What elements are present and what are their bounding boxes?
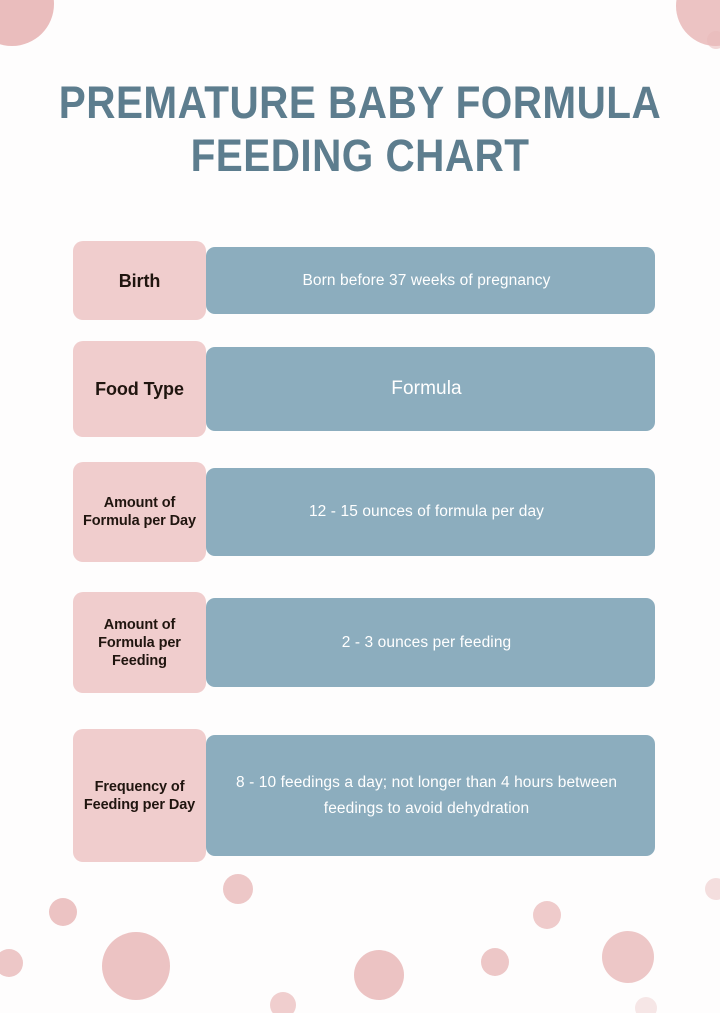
decorative-circle (223, 874, 253, 904)
decorative-circle (0, 949, 23, 977)
row-value-bar: 2 - 3 ounces per feeding (206, 598, 655, 687)
row-label-box: Food Type (73, 341, 206, 437)
row-label-box: Amount of Formula per Feeding (73, 592, 206, 693)
row-value-bar: Born before 37 weeks of pregnancy (206, 247, 655, 314)
row-value-text: 8 - 10 feedings a day; not longer than 4… (224, 770, 629, 822)
table-row: 8 - 10 feedings a day; not longer than 4… (73, 729, 655, 862)
table-row: Born before 37 weeks of pregnancy Birth (73, 241, 655, 320)
decorative-circle (49, 898, 77, 926)
page-title-line-2: FEEDING CHART (36, 129, 684, 182)
row-label-text: Birth (119, 270, 161, 292)
row-label-text: Frequency of Feeding per Day (81, 778, 198, 814)
decorative-circle (705, 878, 720, 900)
row-label-text: Amount of Formula per Day (81, 494, 198, 530)
page-title: PREMATURE BABY FORMULA FEEDING CHART (0, 76, 720, 182)
row-value-text: Formula (391, 376, 461, 402)
row-value-text: 2 - 3 ounces per feeding (342, 630, 512, 656)
row-value-bar: Formula (206, 347, 655, 431)
decorative-circle (676, 0, 720, 46)
row-label-text: Amount of Formula per Feeding (81, 616, 198, 670)
table-row: 12 - 15 ounces of formula per day Amount… (73, 462, 655, 562)
row-value-bar: 8 - 10 feedings a day; not longer than 4… (206, 735, 655, 856)
decorative-circle (533, 901, 561, 929)
row-label-box: Birth (73, 241, 206, 320)
row-label-box: Frequency of Feeding per Day (73, 729, 206, 862)
table-row: Formula Food Type (73, 341, 655, 437)
row-label-text: Food Type (95, 378, 184, 400)
poster-canvas: PREMATURE BABY FORMULA FEEDING CHART Bor… (0, 0, 720, 1013)
decorative-circle (707, 31, 720, 49)
decorative-circle (635, 997, 657, 1013)
page-title-line-1: PREMATURE BABY FORMULA (36, 76, 684, 129)
row-value-bar: 12 - 15 ounces of formula per day (206, 468, 655, 556)
decorative-circle (481, 948, 509, 976)
decorative-circle (102, 932, 170, 1000)
row-value-text: 12 - 15 ounces of formula per day (309, 499, 544, 525)
table-row: 2 - 3 ounces per feeding Amount of Formu… (73, 592, 655, 693)
decorative-circle (270, 992, 296, 1013)
decorative-circle (0, 0, 54, 46)
row-value-text: Born before 37 weeks of pregnancy (302, 268, 550, 294)
decorative-circle (602, 931, 654, 983)
decorative-circle (354, 950, 404, 1000)
row-label-box: Amount of Formula per Day (73, 462, 206, 562)
